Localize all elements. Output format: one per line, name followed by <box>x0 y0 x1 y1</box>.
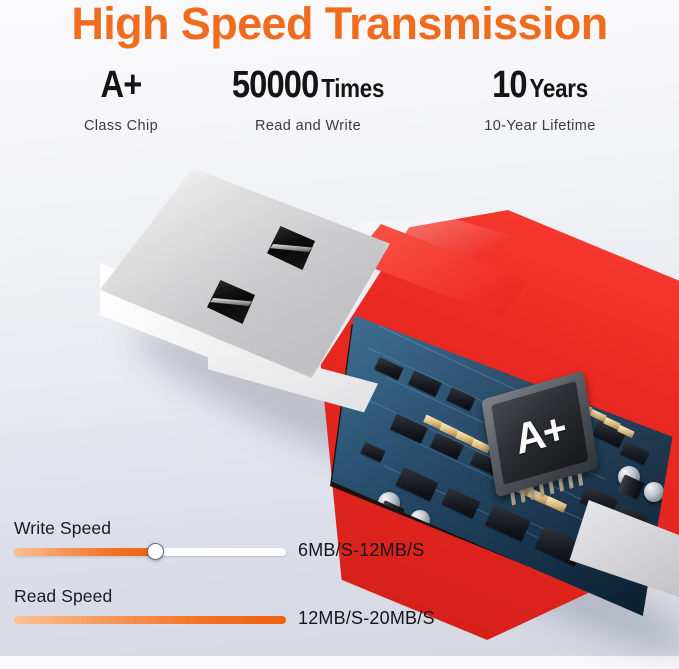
read-speed-slider-track[interactable] <box>14 616 286 624</box>
speed-value: 6MB/S-12MB/S <box>298 540 424 561</box>
stat-value: A+ <box>51 66 190 104</box>
speed-row-read: Read Speed 12MB/S-20MB/S <box>14 586 434 607</box>
speed-label: Read Speed <box>14 586 434 607</box>
stat-value-big: A+ <box>101 64 142 106</box>
stat-value: 50000 Times <box>225 66 390 104</box>
read-speed-slider-fill <box>14 616 286 624</box>
stat-value-big: 10 <box>492 64 527 106</box>
stat-label: Read and Write <box>212 118 404 134</box>
speed-row-write: Write Speed 6MB/S-12MB/S <box>14 518 434 539</box>
stat-value-small: Years <box>529 73 587 103</box>
stat-label: 10-Year Lifetime <box>440 118 640 134</box>
usb-connector <box>100 168 430 418</box>
stat-item-read-write: 50000 Times Read and Write <box>212 66 404 134</box>
speed-value: 12MB/S-20MB/S <box>298 608 435 629</box>
speed-panel: Write Speed 6MB/S-12MB/S Read Speed 12MB… <box>0 518 440 656</box>
connector-top-face <box>100 168 390 378</box>
stat-item-lifetime: 10 Years 10-Year Lifetime <box>440 66 640 134</box>
stat-value-small: Times <box>321 73 384 103</box>
write-speed-slider-knob[interactable] <box>147 543 164 560</box>
speed-label: Write Speed <box>14 518 434 539</box>
stat-value-big: 50000 <box>232 64 319 106</box>
stat-value: 10 Years <box>454 66 626 104</box>
page-title: High Speed Transmission <box>0 0 679 50</box>
stat-item-class-chip: A+ Class Chip <box>40 66 202 134</box>
write-speed-slider-fill <box>14 548 155 556</box>
stat-label: Class Chip <box>40 118 202 134</box>
stats-row: A+ Class Chip 50000 Times Read and Write… <box>0 66 679 156</box>
header-section: High Speed Transmission A+ Class Chip 50… <box>0 0 679 160</box>
